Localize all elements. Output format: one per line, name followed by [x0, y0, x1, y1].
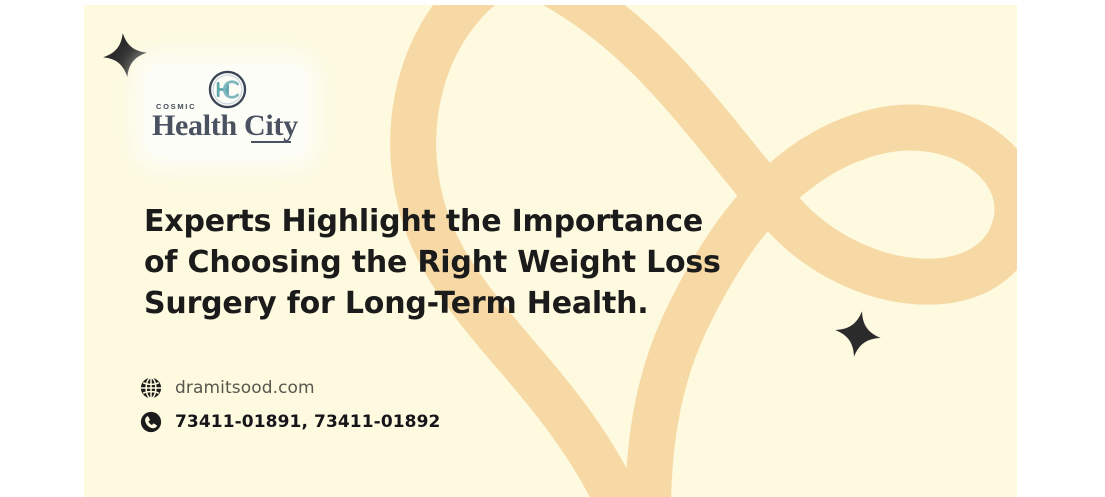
h-plus-c-monogram-icon: [208, 70, 247, 109]
brand-logo: COSMIC Health City: [146, 65, 306, 157]
contact-block: dramitsood.com 73411-01891, 73411-01892: [140, 371, 440, 439]
brand-underline: [251, 141, 291, 143]
phone-label: 73411-01891, 73411-01892: [175, 412, 440, 432]
headline-line-2: of Choosing the Right Weight Loss: [144, 242, 784, 283]
banner-screenshot: COSMIC Health City Experts Highlight the…: [0, 0, 1105, 497]
page-title: Experts Highlight the Importance of Choo…: [144, 201, 784, 324]
website-row[interactable]: dramitsood.com: [140, 371, 440, 405]
sparkle-icon: [100, 30, 151, 81]
brand-wordmark: Health City: [152, 109, 298, 143]
website-label: dramitsood.com: [175, 378, 315, 398]
sparkle-icon: [830, 306, 886, 362]
globe-icon: [140, 377, 162, 399]
headline-line-1: Experts Highlight the Importance: [144, 201, 784, 242]
headline-line-3: Surgery for Long-Term Health.: [144, 283, 784, 324]
phone-icon: [140, 411, 162, 433]
promo-banner: COSMIC Health City Experts Highlight the…: [84, 5, 1017, 497]
phone-row[interactable]: 73411-01891, 73411-01892: [140, 405, 440, 439]
